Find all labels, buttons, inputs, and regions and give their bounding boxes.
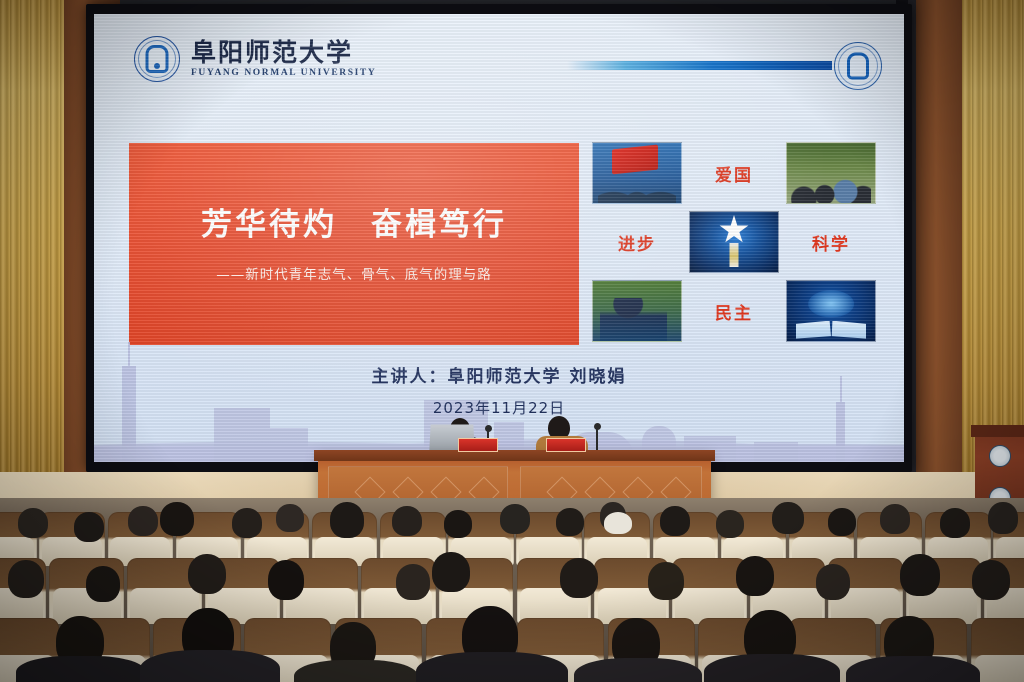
stage-curtain-left xyxy=(0,0,64,508)
table-top-edge xyxy=(314,450,715,461)
seat-row xyxy=(0,558,1024,624)
slide-date: 2023年11月22日 xyxy=(94,397,904,418)
students-group-photo xyxy=(786,142,876,204)
microphone-right-icon xyxy=(596,428,598,452)
star-trophy-photo xyxy=(689,211,779,273)
keyword-aiguo-label: 爱国 xyxy=(715,161,753,186)
presenter-line: 主讲人：阜阳师范大学 刘晓娟 xyxy=(94,362,904,387)
soldiers-with-flag-photo xyxy=(592,142,682,204)
keyword-kexue-label: 科学 xyxy=(812,230,850,255)
presentation-slide: 阜阳师范大学 FUYANG NORMAL UNIVERSITY 芳华待灼 奋楫笃… xyxy=(94,14,904,462)
keyword-minzhu-label: 民主 xyxy=(715,299,753,324)
nameplate-icon xyxy=(458,438,498,452)
nameplate-icon xyxy=(546,438,586,452)
university-name-en: FUYANG NORMAL UNIVERSITY xyxy=(191,68,376,78)
audience-area xyxy=(0,498,1024,682)
brain-book-photo xyxy=(786,280,876,342)
university-emblem-icon xyxy=(989,445,1011,467)
slide-subtitle: ——新时代青年志气、骨气、底气的理与路 xyxy=(129,263,579,283)
wood-panel-right xyxy=(916,0,966,500)
slide-header-logo: 阜阳师范大学 FUYANG NORMAL UNIVERSITY xyxy=(134,36,376,82)
keyword-aiguo: 爱国 xyxy=(689,142,779,204)
police-officer-photo xyxy=(592,280,682,342)
projection-screen-bezel: 阜阳师范大学 FUYANG NORMAL UNIVERSITY 芳华待灼 奋楫笃… xyxy=(86,4,912,472)
keyword-jinbu: 进步 xyxy=(592,211,682,273)
university-seal-icon xyxy=(134,36,180,82)
corner-university-seal-icon xyxy=(834,42,882,90)
keyword-jinbu-label: 进步 xyxy=(618,230,656,255)
projection-screen: 阜阳师范大学 FUYANG NORMAL UNIVERSITY 芳华待灼 奋楫笃… xyxy=(94,14,904,462)
keyword-kexue: 科学 xyxy=(786,211,876,273)
lecture-hall-scene: 阜阳师范大学 FUYANG NORMAL UNIVERSITY 芳华待灼 奋楫笃… xyxy=(0,0,1024,682)
slide-title: 芳华待灼 奋楫笃行 xyxy=(129,199,579,244)
podium-top xyxy=(971,425,1024,437)
title-block: 芳华待灼 奋楫笃行 ——新时代青年志气、骨气、底气的理与路 xyxy=(129,143,579,345)
keyword-photo-grid: 爱国 进步 科学 民主 xyxy=(592,142,876,342)
decor-band xyxy=(567,61,832,70)
university-name-cn: 阜阳师范大学 xyxy=(191,40,376,65)
keyword-minzhu: 民主 xyxy=(689,280,779,342)
